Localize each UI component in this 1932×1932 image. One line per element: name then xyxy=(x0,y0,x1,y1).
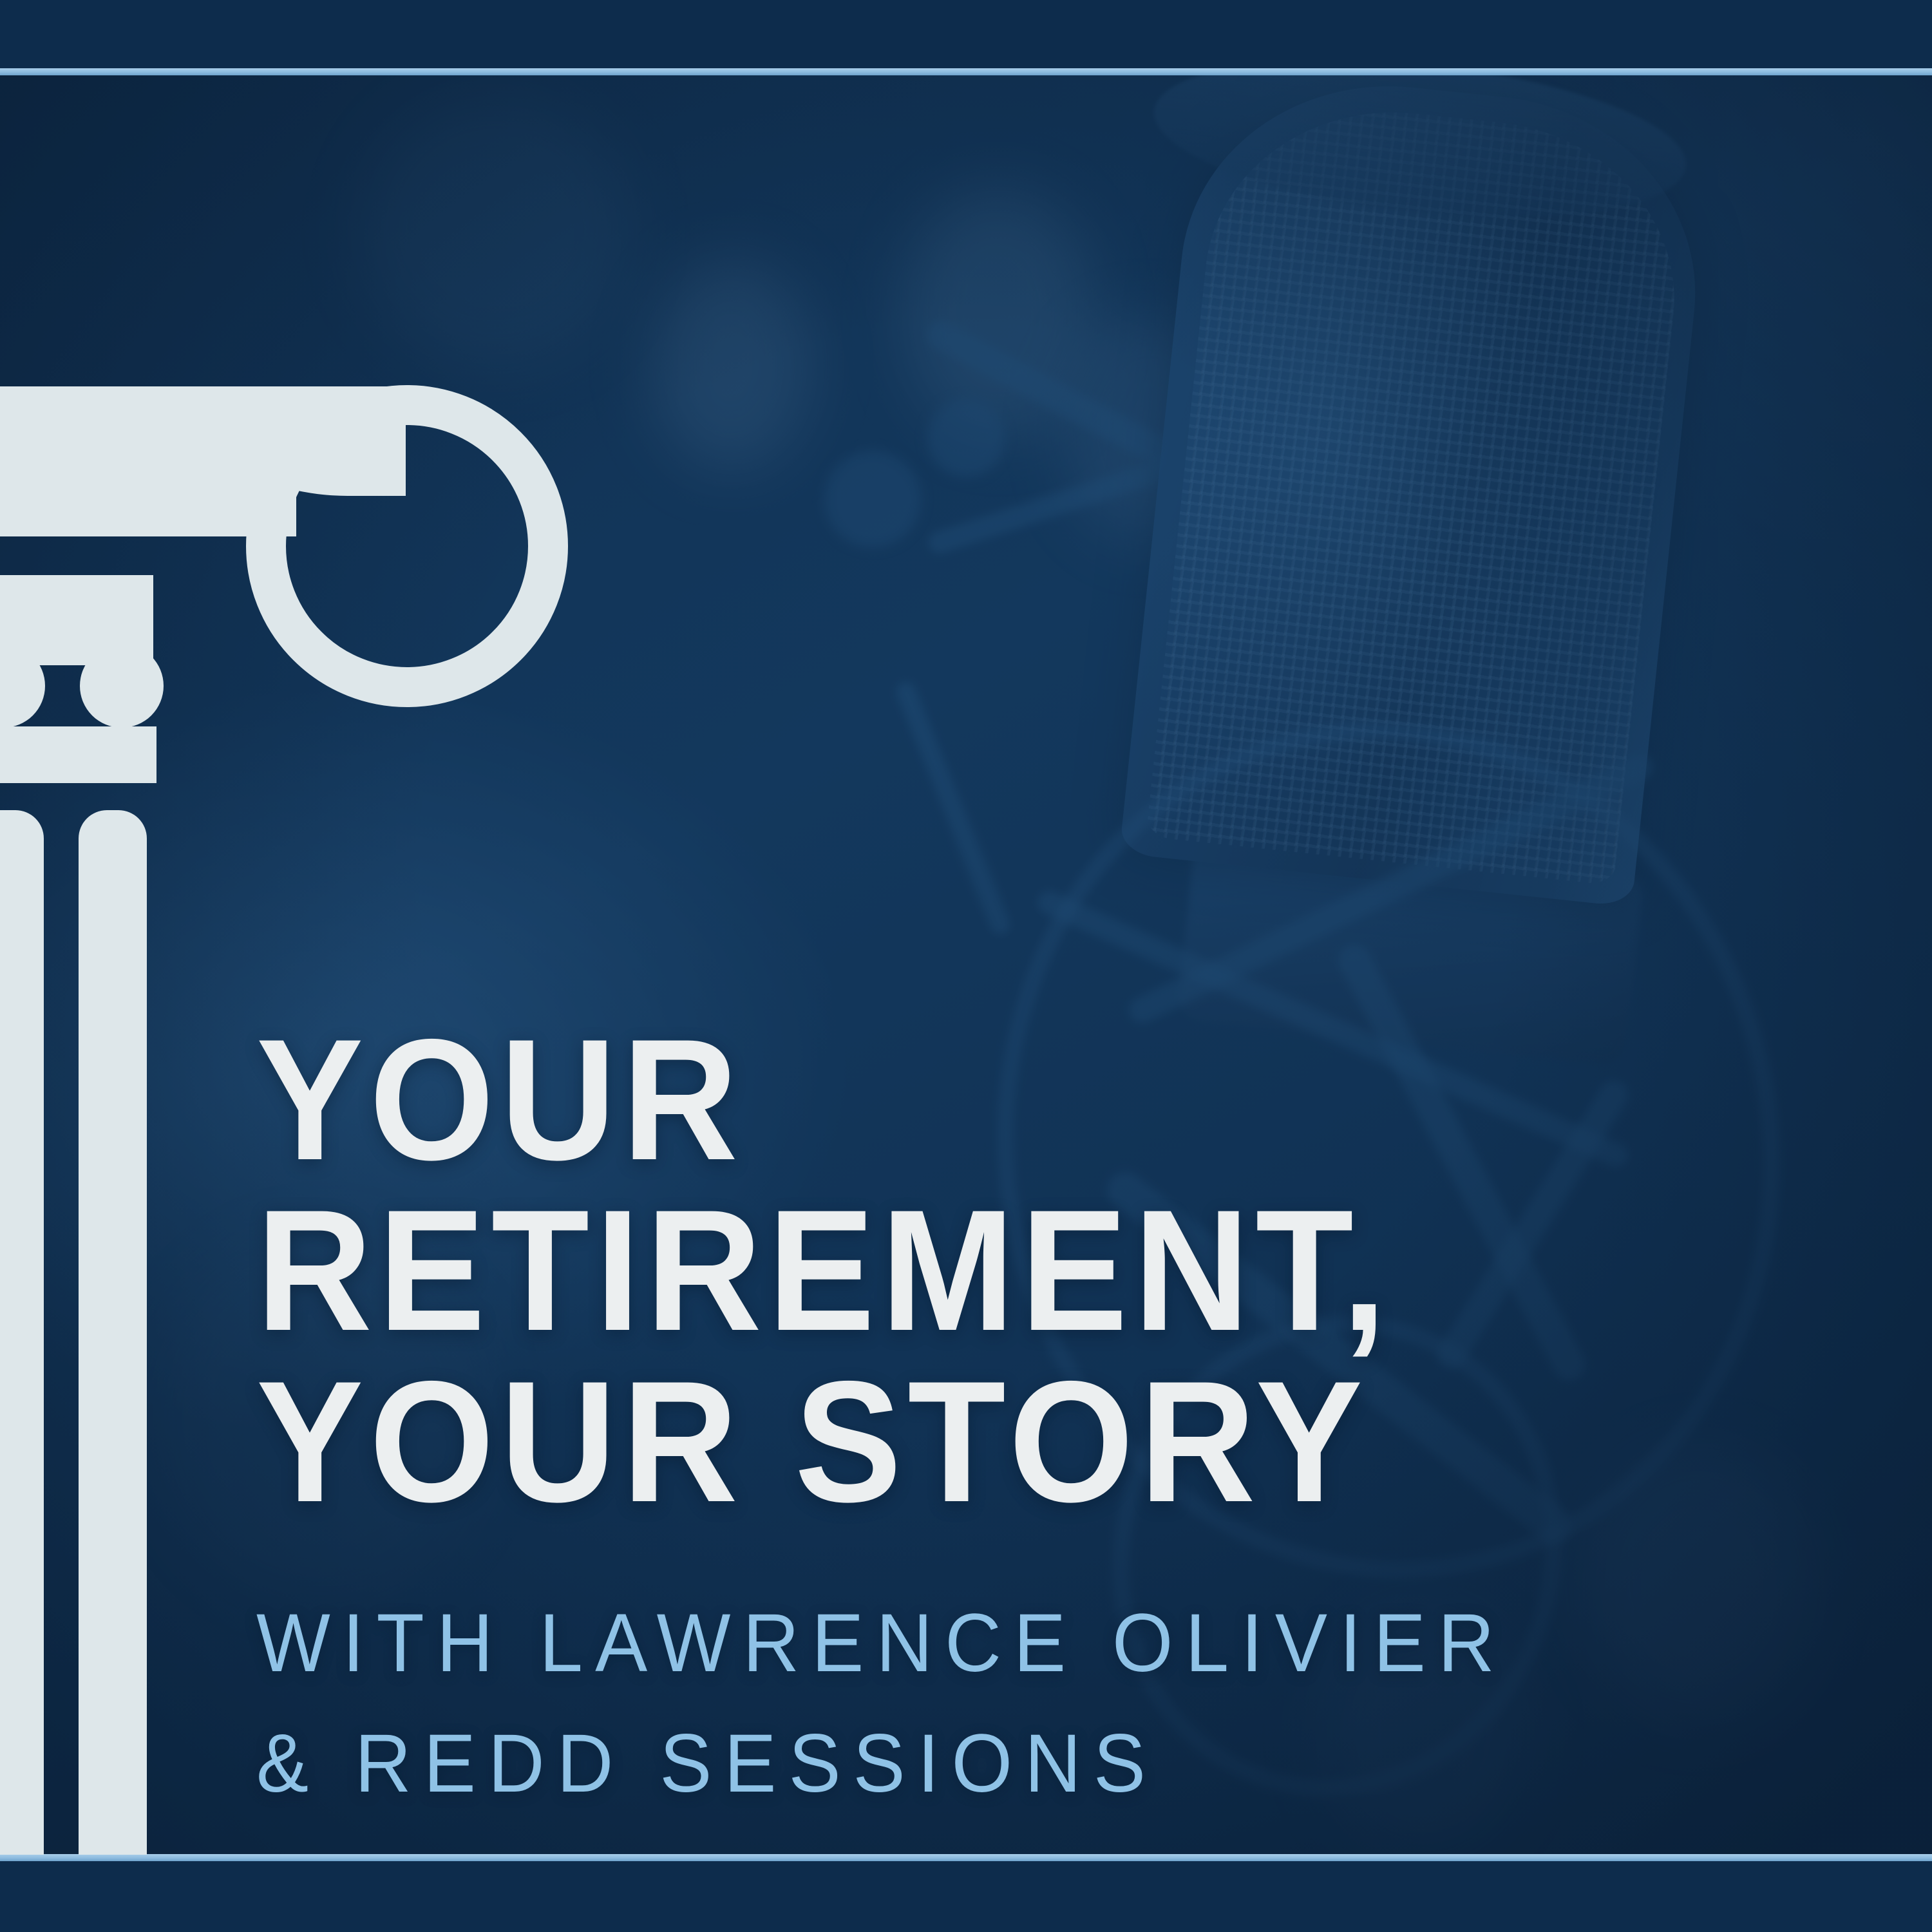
logo-o-ring xyxy=(246,385,568,707)
logo-third-slab xyxy=(0,726,156,783)
page-title: YOUR RETIREMENT, YOUR STORY xyxy=(256,1014,1724,1527)
bottom-band xyxy=(0,1861,1932,1932)
logo-leg-left xyxy=(0,810,44,1855)
hosts-subtitle: WITH LAWRENCE OLIVIER & REDD SESSIONS xyxy=(256,1584,1756,1824)
logo-dot-right xyxy=(80,644,164,728)
logo-leg-right xyxy=(79,810,147,1855)
podcast-cover-art: YOUR RETIREMENT, YOUR STORY WITH LAWRENC… xyxy=(0,0,1932,1932)
text-block: YOUR RETIREMENT, YOUR STORY WITH LAWRENC… xyxy=(256,1014,1834,1824)
